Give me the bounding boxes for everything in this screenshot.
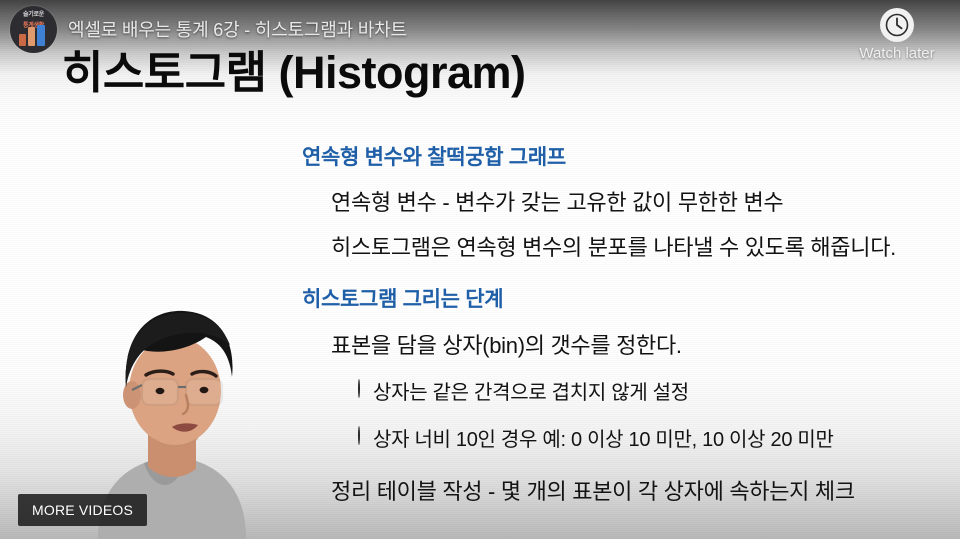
slide-subbullet-1: 상자는 같은 간격으로 겹치지 않게 설정: [358, 381, 689, 406]
slide-bullet-4: 정리 테이블 작성 - 몇 개의 표본이 각 상자에 속하는지 체크: [318, 478, 855, 506]
watch-later-button[interactable]: Watch later: [842, 8, 952, 62]
channel-avatar[interactable]: 슬기로운 통계생활: [10, 6, 57, 53]
bullet-ring-icon: [358, 381, 360, 397]
slide-heading-2: 히스토그램 그리는 단계: [302, 283, 503, 313]
bullet-text: 표본을 담을 상자(bin)의 갯수를 정한다.: [331, 332, 682, 360]
avatar-text-line1: 슬기로운: [10, 12, 57, 19]
video-title[interactable]: 엑셀로 배우는 통계 6강 - 히스토그램과 바차트: [68, 16, 407, 42]
video-player[interactable]: 히스토그램 (Histogram) 연속형 변수와 찰떡궁합 그래프 연속형 변…: [0, 0, 960, 539]
clock-icon: [880, 8, 914, 42]
slide-bullet-2: 히스토그램은 연속형 변수의 분포를 나타낼 수 있도록 해줍니다.: [318, 234, 896, 262]
more-videos-button[interactable]: MORE VIDEOS: [18, 494, 147, 526]
bullet-text: 정리 테이블 작성 - 몇 개의 표본이 각 상자에 속하는지 체크: [331, 478, 855, 506]
bullet-text: 히스토그램은 연속형 변수의 분포를 나타낼 수 있도록 해줍니다.: [331, 234, 896, 262]
bullet-text: 상자는 같은 간격으로 겹치지 않게 설정: [373, 381, 689, 406]
slide-title: 히스토그램 (Histogram): [62, 36, 526, 101]
bullet-ring-icon: [358, 428, 360, 444]
slide-bullet-3: 표본을 담을 상자(bin)의 갯수를 정한다.: [318, 332, 682, 360]
bullet-text: 상자 너비 10인 경우 예: 0 이상 10 미만, 10 이상 20 미만: [373, 428, 834, 453]
watch-later-label: Watch later: [842, 45, 952, 62]
avatar-bars-icon: [19, 24, 49, 46]
slide-heading-1: 연속형 변수와 찰떡궁합 그래프: [302, 141, 566, 171]
slide-bullet-1: 연속형 변수 - 변수가 갖는 고유한 값이 무한한 변수: [318, 189, 783, 217]
slide-subbullet-2: 상자 너비 10인 경우 예: 0 이상 10 미만, 10 이상 20 미만: [358, 428, 834, 453]
bullet-text: 연속형 변수 - 변수가 갖는 고유한 값이 무한한 변수: [331, 189, 783, 217]
